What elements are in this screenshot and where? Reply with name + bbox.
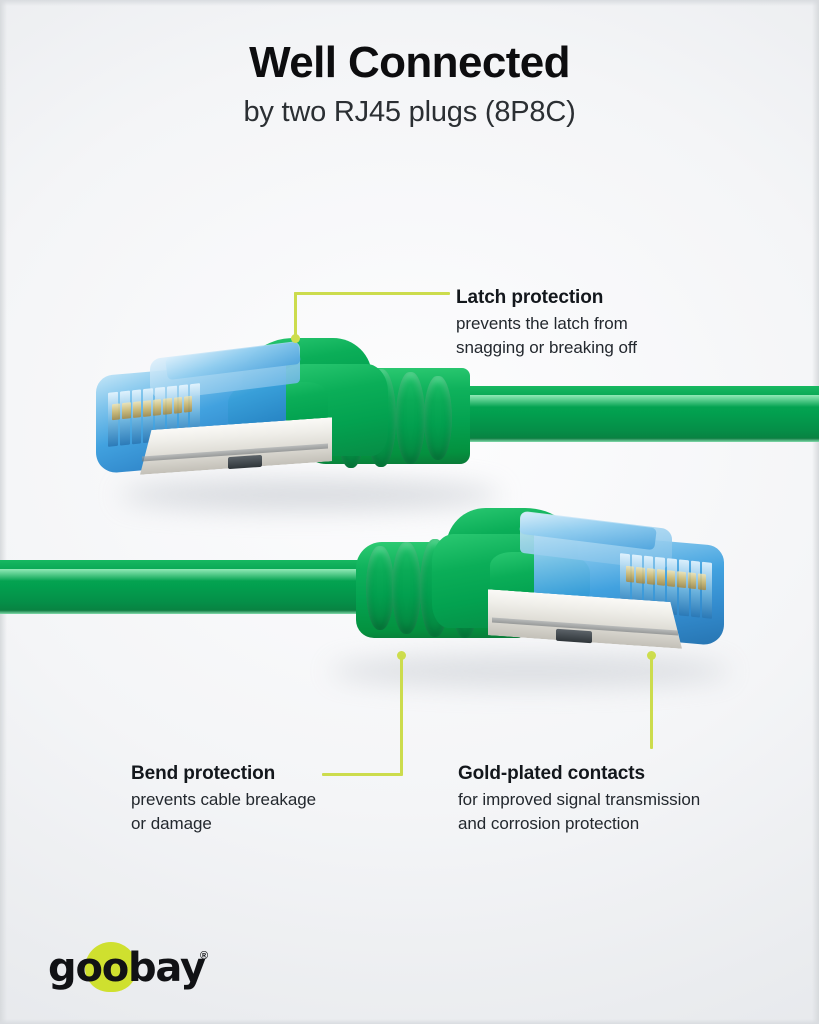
callout-gold-title: Gold-plated contacts <box>458 762 700 786</box>
logo-letters-bay: bay <box>128 945 205 991</box>
logo-letters-oo: oo <box>75 945 128 991</box>
goobay-logo: goobay ® <box>48 946 205 990</box>
callout-gold-line2: and corrosion protection <box>458 812 700 836</box>
logo-wordmark: goobay <box>48 946 205 990</box>
cable-lower <box>0 560 390 614</box>
top-edge-band <box>0 0 819 6</box>
registered-trademark-icon: ® <box>200 950 208 962</box>
callout-bend-protection: Bend protection prevents cable breakage … <box>131 762 316 836</box>
shadow-lower <box>330 655 730 687</box>
header: Well Connected by two RJ45 plugs (8P8C) <box>0 40 819 129</box>
page-subtitle: by two RJ45 plugs (8P8C) <box>0 96 819 129</box>
callout-bend-line2: or damage <box>131 812 316 836</box>
callout-latch-protection: Latch protection prevents the latch from… <box>456 286 637 360</box>
callout-bend-line1: prevents cable breakage <box>131 788 316 812</box>
bottom-edge-band <box>0 1019 819 1024</box>
callout-gold-line1: for improved signal transmission <box>458 788 700 812</box>
callout-latch-line1: prevents the latch from <box>456 312 637 336</box>
callout-latch-title: Latch protection <box>456 286 637 310</box>
cable-upper <box>452 386 819 442</box>
callout-gold-plated-contacts: Gold-plated contacts for improved signal… <box>458 762 700 836</box>
callout-latch-line2: snagging or breaking off <box>456 336 637 360</box>
callout-bend-title: Bend protection <box>131 762 316 786</box>
product-infographic: Well Connected by two RJ45 plugs (8P8C) <box>0 0 819 1024</box>
shield-notch-lower <box>556 629 592 644</box>
logo-letter-g: g <box>48 945 75 991</box>
page-title: Well Connected <box>0 40 819 87</box>
shield-notch-upper <box>228 455 262 469</box>
product-photo <box>0 150 819 710</box>
shadow-upper <box>120 480 500 510</box>
